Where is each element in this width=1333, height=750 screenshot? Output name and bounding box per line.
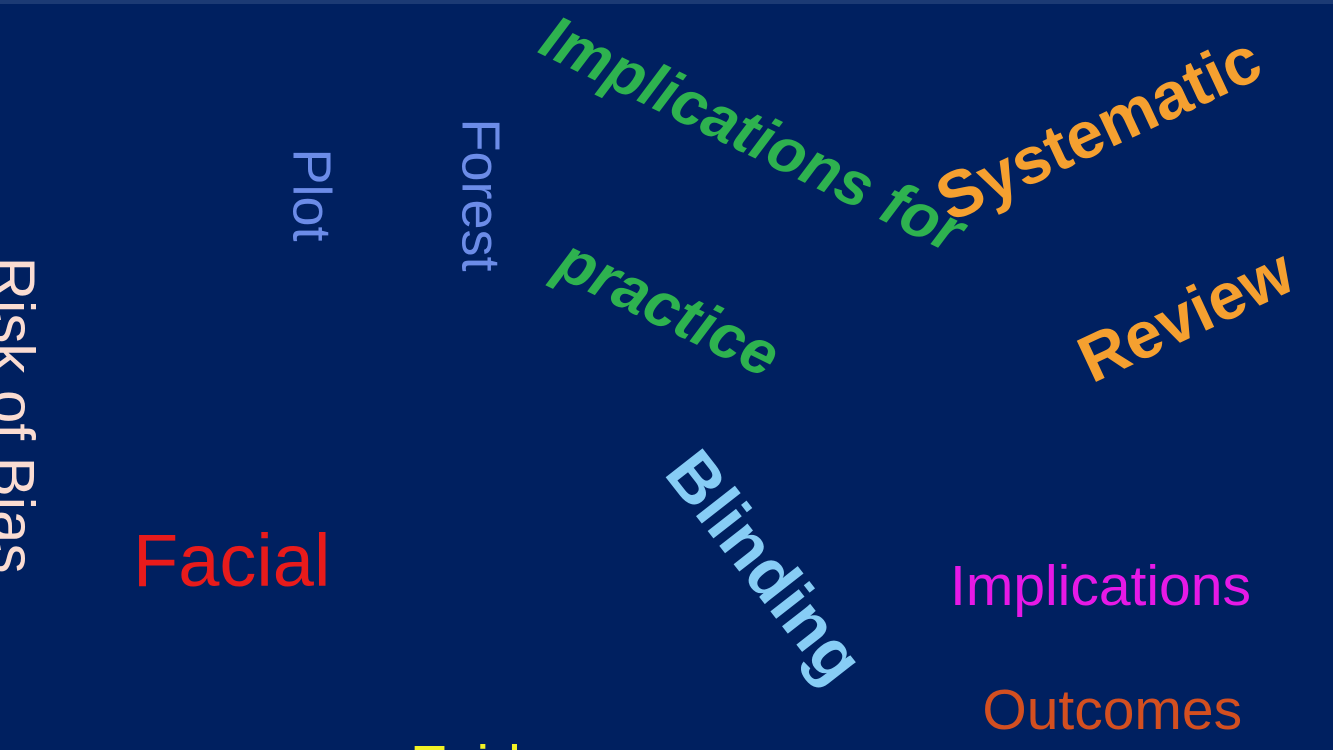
word-outcomes: Outcomes xyxy=(919,622,1242,750)
word-facial-photodamage-line1: Facial xyxy=(133,518,594,603)
word-implications-for-research-line1: Implications xyxy=(950,553,1254,620)
word-evidence-quality-line1: Evidence xyxy=(410,733,645,750)
word-systematic-review-line2: Review xyxy=(958,185,1333,446)
word-evidence-quality: Evidence Quality xyxy=(410,598,645,750)
word-risk-of-bias-line1: Risk of Bias xyxy=(0,257,46,574)
word-forest-plot-line2: Plot xyxy=(284,50,340,340)
word-systematic-review-line1: Systematic xyxy=(871,0,1326,259)
word-risk-of-bias: Risk of Bias xyxy=(0,190,106,520)
word-cloud-canvas: Risk of Bias Forest Plot Implications fo… xyxy=(0,0,1333,750)
word-outcomes-line1: Outcomes xyxy=(982,678,1242,742)
